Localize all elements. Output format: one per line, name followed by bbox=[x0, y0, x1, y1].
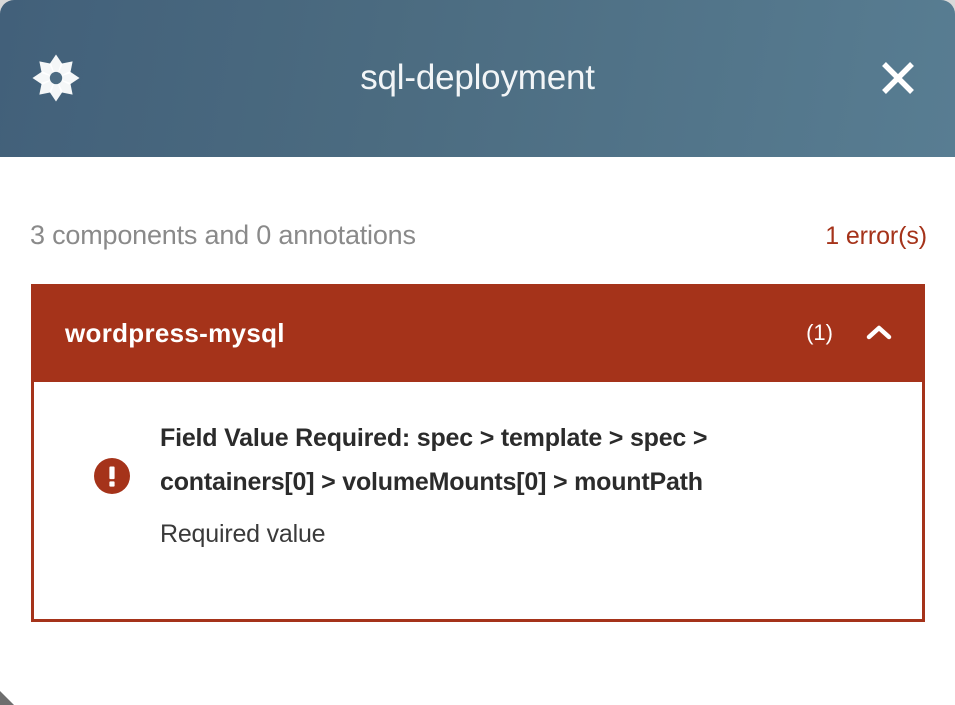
close-icon bbox=[876, 56, 920, 100]
error-count-badge: 1 error(s) bbox=[825, 222, 927, 251]
components-annotations-count: 3 components and 0 annotations bbox=[30, 220, 416, 251]
resource-accordion-header[interactable]: wordpress-mysql (1) bbox=[31, 284, 925, 382]
validation-dialog-window: sql-deployment 3 components and 0 annota… bbox=[0, 0, 955, 705]
close-button[interactable] bbox=[873, 53, 923, 103]
chevron-up-icon bbox=[862, 316, 896, 350]
resource-issue-count: (1) bbox=[806, 320, 833, 346]
resource-accordion-body: Field Value Required: spec > template > … bbox=[31, 382, 925, 622]
resource-error-card: wordpress-mysql (1) bbox=[31, 284, 925, 622]
dialog-title: sql-deployment bbox=[0, 52, 955, 104]
resize-corner-icon[interactable] bbox=[0, 691, 14, 705]
dialog-titlebar: sql-deployment bbox=[0, 0, 955, 157]
issue-text-block: Field Value Required: spec > template > … bbox=[160, 416, 892, 556]
summary-row: 3 components and 0 annotations 1 error(s… bbox=[30, 220, 927, 251]
accordion-toggle-button[interactable] bbox=[859, 313, 899, 353]
issue-title: Field Value Required: spec > template > … bbox=[160, 416, 760, 504]
issue-row: Field Value Required: spec > template > … bbox=[64, 416, 892, 556]
issue-detail: Required value bbox=[160, 512, 892, 556]
error-exclamation-icon bbox=[94, 458, 130, 494]
resource-name: wordpress-mysql bbox=[65, 318, 806, 349]
dialog-content: 3 components and 0 annotations 1 error(s… bbox=[0, 157, 955, 705]
